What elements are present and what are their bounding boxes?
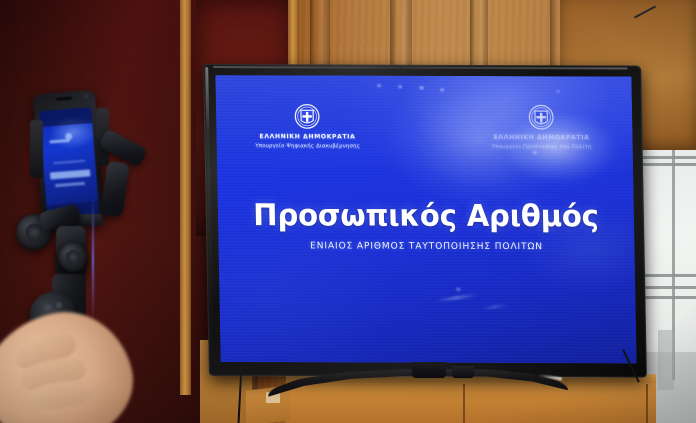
gimbal-arm-side xyxy=(100,161,129,218)
gimbal-motor-pan xyxy=(58,242,88,272)
screen-logo-row: ΕΛΛΗΝΙΚΗ ΔΗΜΟΚΡΑΤΙΑ Υπουργείο Ψηφιακής Δ… xyxy=(216,103,633,150)
phone-earpiece xyxy=(56,97,72,101)
screen-headline: Προσωπικός Αριθμός xyxy=(224,201,628,232)
tv-stand-foot xyxy=(452,366,474,378)
window-rail xyxy=(636,163,696,166)
logo-ministry-citizen-protection: ΕΛΛΗΝΙΚΗ ΔΗΜΟΚΡΑΤΙΑ Υπουργείο Προστασίας… xyxy=(461,104,622,150)
tv-stand-neck xyxy=(412,362,446,378)
screen-subheadline: ΕΝΙΑΙΟΣ ΑΡΙΘΜΟΣ ΤΑΥΤΟΠΟΙΗΣΗΣ ΠΟΛΙΤΩΝ xyxy=(218,241,634,252)
scene-root: ΕΛΛΗΝΙΚΗ ΔΗΜΟΚΡΑΤΙΑ Υπουργείο Ψηφιακής Δ… xyxy=(0,0,696,423)
window-rail xyxy=(636,156,696,159)
camera-rig[interactable] xyxy=(0,78,150,423)
greek-coat-of-arms-icon xyxy=(294,103,320,129)
phone-clamp-left xyxy=(30,120,43,178)
gimbal-led-strip xyxy=(92,196,94,324)
greek-coat-of-arms-icon xyxy=(528,104,554,130)
screen-headline-block: Προσωπικός Αριθμός ΕΝΙΑΙΟΣ ΑΡΙΘΜΟΣ ΤΑΥΤΟ… xyxy=(218,201,635,252)
window-ledge xyxy=(658,330,674,390)
bezel-top-highlight xyxy=(213,66,627,69)
phone-screen-preview[interactable] xyxy=(39,107,99,219)
wall-trim-strip xyxy=(180,0,191,395)
phone-status-bar xyxy=(39,107,92,127)
television[interactable]: ΕΛΛΗΝΙΚΗ ΔΗΜΟΚΡΑΤΙΑ Υπουργείο Ψηφιακής Δ… xyxy=(203,64,647,377)
gimbal-button[interactable] xyxy=(56,302,62,308)
logo-title: ΕΛΛΗΝΙΚΗ ΔΗΜΟΚΡΑΤΙΑ xyxy=(227,134,387,141)
tv-screen[interactable]: ΕΛΛΗΝΙΚΗ ΔΗΜΟΚΡΑΤΙΑ Υπουργείο Ψηφιακής Δ… xyxy=(215,75,636,363)
logo-title: ΕΛΛΗΝΙΚΗ ΔΗΜΟΚΡΑΤΙΑ xyxy=(461,135,621,142)
logo-subtitle: Υπουργείο Προστασίας του Πολίτη xyxy=(462,144,622,151)
logo-subtitle: Υπουργείο Ψηφιακής Διακυβέρνησης xyxy=(228,143,388,150)
logo-ministry-digital-governance: ΕΛΛΗΝΙΚΗ ΔΗΜΟΚΡΑΤΙΑ Υπουργείο Ψηφιακής Δ… xyxy=(227,103,388,149)
podium-seam xyxy=(646,384,648,423)
tv-bezel: ΕΛΛΗΝΙΚΗ ΔΗΜΟΚΡΑΤΙΑ Υπουργείο Ψηφιακής Δ… xyxy=(203,64,647,377)
phone-camera-icon xyxy=(84,94,88,98)
gimbal-button[interactable] xyxy=(44,304,51,311)
